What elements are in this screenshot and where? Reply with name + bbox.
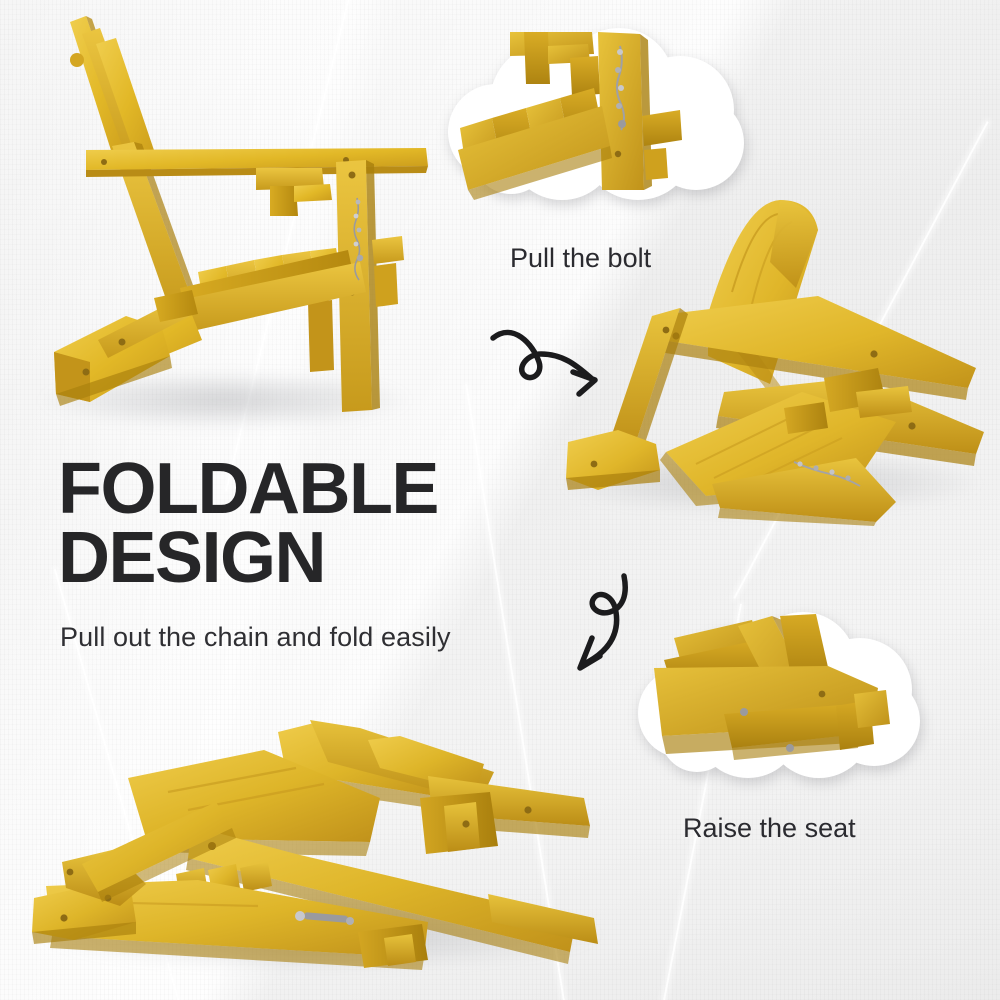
page-title-line-2: DESIGN	[58, 524, 438, 593]
chair-cleat	[372, 236, 404, 264]
chair-cleat	[374, 263, 398, 307]
detail-seat-hinge	[640, 608, 930, 790]
folded-side-block	[420, 792, 498, 854]
arrow-curly-right-icon	[487, 316, 617, 402]
detail-bolt-and-chain	[452, 18, 752, 218]
product-chair-folded-flat	[28, 706, 618, 978]
infographic-canvas: Pull the bolt	[0, 0, 1000, 1000]
page-title-line-1: FOLDABLE	[58, 449, 438, 529]
chair-rear-leg	[308, 300, 334, 372]
arrow-curly-down-icon	[548, 572, 640, 684]
page-title: FOLDABLE DESIGN	[58, 455, 438, 593]
chair-arm-bracket	[256, 168, 332, 216]
page-subtitle: Pull out the chain and fold easily	[60, 622, 451, 653]
step-label-raise-the-seat: Raise the seat	[683, 813, 856, 844]
step-label-pull-the-bolt: Pull the bolt	[510, 243, 651, 274]
product-chair-upright	[30, 10, 450, 430]
